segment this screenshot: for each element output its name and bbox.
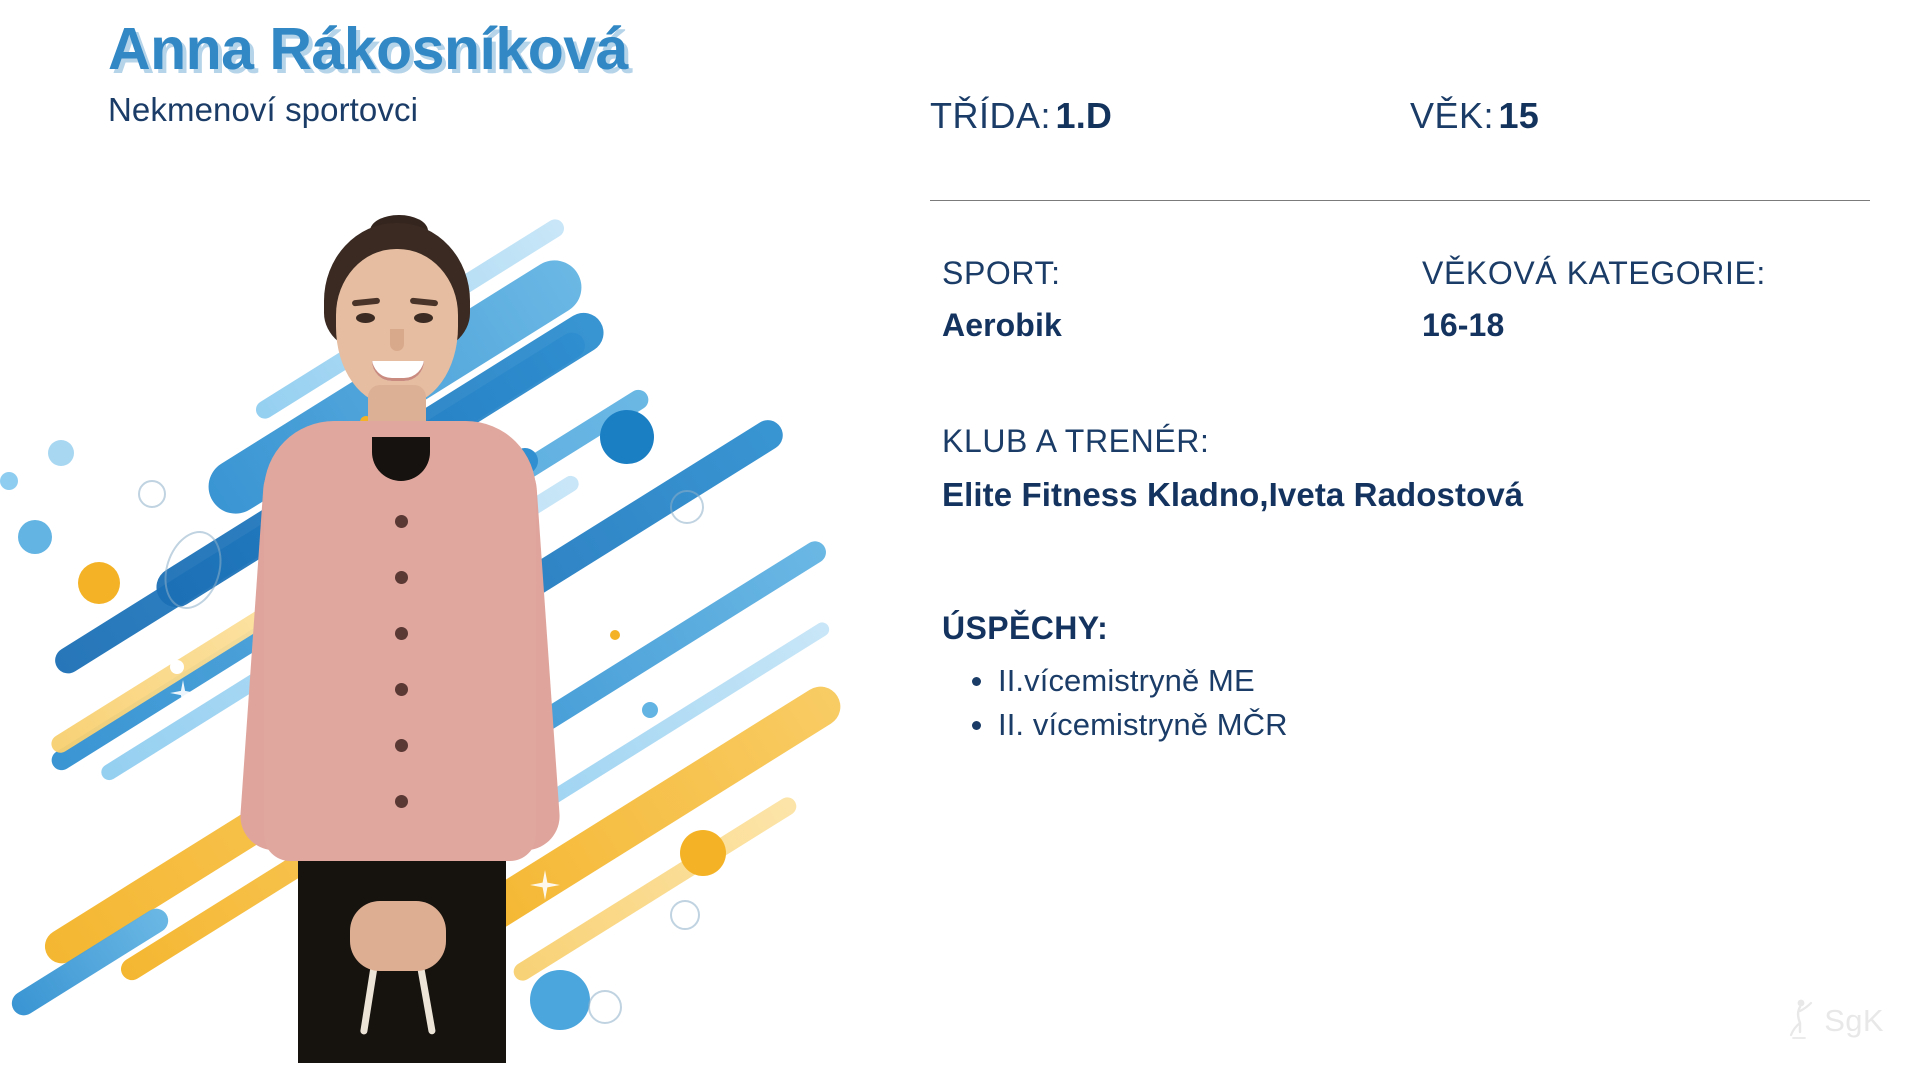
field-club-and-coach: KLUB A TRENÉR: Elite Fitness Kladno,Ivet… <box>942 420 1872 517</box>
age-label: VĚK: <box>1410 95 1494 136</box>
field-sport: SPORT: Aerobik <box>942 252 1422 347</box>
achievements-title: ÚSPĚCHY: <box>942 610 1872 647</box>
athlete-info-panel: TŘÍDA: 1.D VĚK: 15 SPORT: Aerobik VĚKOVÁ… <box>930 0 1920 1080</box>
list-item: II.vícemistryně ME <box>998 659 1872 703</box>
page-title: Anna Rákosníková <box>108 18 908 82</box>
headline-block: Anna Rákosníková Nekmenoví sportovci <box>108 18 908 129</box>
athlete-portrait <box>232 215 572 1060</box>
age-category-label: VĚKOVÁ KATEGORIE: <box>1422 252 1872 294</box>
age-value: 15 <box>1499 95 1539 136</box>
watermark: SgK <box>1788 998 1884 1044</box>
club-label: KLUB A TRENÉR: <box>942 420 1872 462</box>
sport-agecat-row: SPORT: Aerobik VĚKOVÁ KATEGORIE: 16-18 <box>942 252 1872 347</box>
class-value: 1.D <box>1055 95 1112 136</box>
athlete-photo-area <box>0 210 900 1080</box>
field-class: TŘÍDA: 1.D <box>930 95 1410 137</box>
decorative-brushstroke-artwork <box>0 210 900 1080</box>
age-category-value: 16-18 <box>1422 305 1872 347</box>
class-label: TŘÍDA: <box>930 95 1051 136</box>
top-info-row: TŘÍDA: 1.D VĚK: 15 <box>930 95 1870 137</box>
watermark-text: SgK <box>1824 1003 1884 1039</box>
club-value: Elite Fitness Kladno,Iveta Radostová <box>942 474 1872 517</box>
field-age-category: VĚKOVÁ KATEGORIE: 16-18 <box>1422 252 1872 347</box>
sport-label: SPORT: <box>942 252 1422 294</box>
achievements-list: II.vícemistryně ME II. vícemistryně MČR <box>942 659 1872 747</box>
field-age: VĚK: 15 <box>1410 95 1830 137</box>
figure-skater-icon <box>1788 998 1816 1044</box>
athlete-category-group: Nekmenoví sportovci <box>108 91 908 129</box>
sport-value: Aerobik <box>942 305 1422 347</box>
list-item: II. vícemistryně MČR <box>998 703 1872 747</box>
athlete-profile-slide: Anna Rákosníková Nekmenoví sportovci <box>0 0 1920 1080</box>
header-divider <box>930 200 1870 201</box>
achievements-section: ÚSPĚCHY: II.vícemistryně ME II. vícemist… <box>942 610 1872 747</box>
